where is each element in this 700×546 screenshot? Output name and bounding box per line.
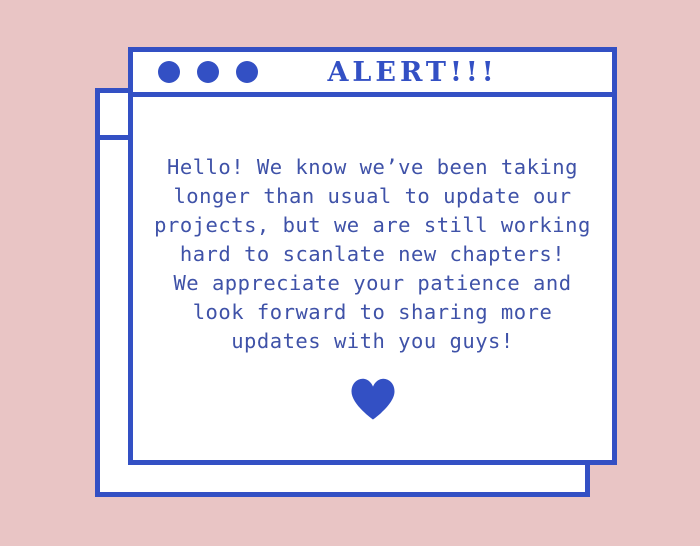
heart-icon	[350, 378, 396, 420]
alert-message-text: Hello! We know we’ve been taking longer …	[146, 153, 599, 356]
heart-decoration	[133, 378, 612, 420]
screenshot-canvas: ALERT!!! Hello! We know we’ve been takin…	[0, 0, 700, 546]
window-title: ALERT!!!	[268, 59, 557, 86]
window-controls	[158, 61, 258, 83]
alert-window[interactable]: ALERT!!! Hello! We know we’ve been takin…	[128, 47, 617, 465]
alert-window-titlebar[interactable]: ALERT!!!	[133, 52, 612, 97]
window-dot-3-icon[interactable]	[236, 61, 258, 83]
alert-window-body: Hello! We know we’ve been taking longer …	[133, 97, 612, 460]
window-dot-2-icon[interactable]	[197, 61, 219, 83]
window-dot-1-icon[interactable]	[158, 61, 180, 83]
